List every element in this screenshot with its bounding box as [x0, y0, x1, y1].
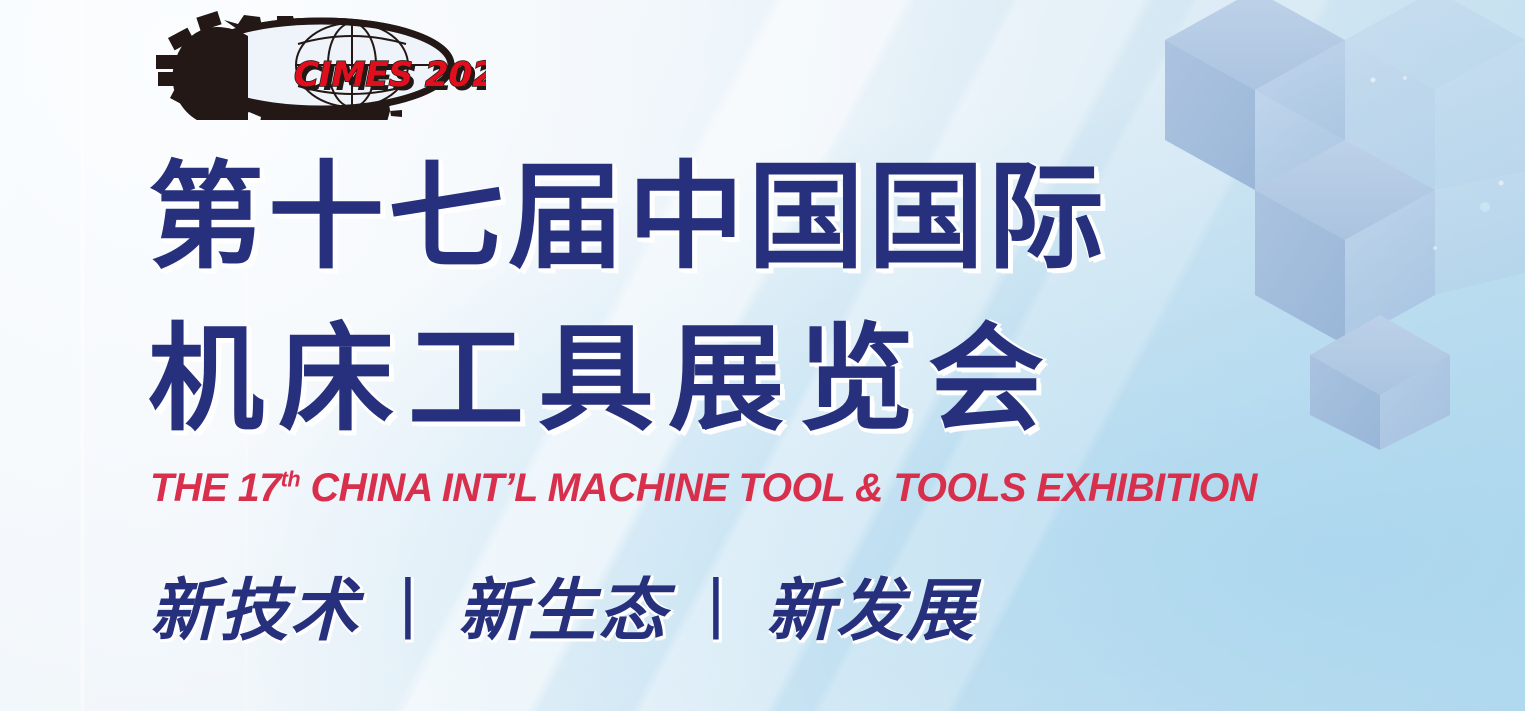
tagline: 新技术丨新生态丨新发展 [150, 578, 976, 646]
tagline-item-3: 新发展 [766, 572, 976, 651]
tagline-item-2: 新生态 [458, 572, 668, 651]
subtitle-ordinal: th [281, 467, 300, 492]
cimes-2026-banner: CIMES 2026 CIMES 2026 第十七届中国国际 机床工具展览会 T… [0, 0, 1525, 711]
logo-wordmark: CIMES 2026 [294, 55, 486, 95]
subtitle-english: THE 17th CHINA INT’L MACHINE TOOL & TOOL… [150, 468, 1257, 508]
subtitle-rest: CHINA INT’L MACHINE TOOL & TOOLS EXHIBIT… [300, 466, 1257, 510]
page-title-line-1: 第十七届中国国际 [148, 160, 1108, 276]
page-title-line-2: 机床工具展览会 [148, 322, 1058, 438]
tagline-item-1: 新技术 [150, 572, 360, 651]
cimes-gear-globe-logo: CIMES 2026 CIMES 2026 [146, 10, 486, 120]
subtitle-prefix: THE 17 [150, 466, 281, 510]
tagline-separator-2: 丨 [668, 572, 766, 651]
tagline-separator-1: 丨 [360, 572, 458, 651]
isometric-cube-cluster [1105, 0, 1525, 450]
